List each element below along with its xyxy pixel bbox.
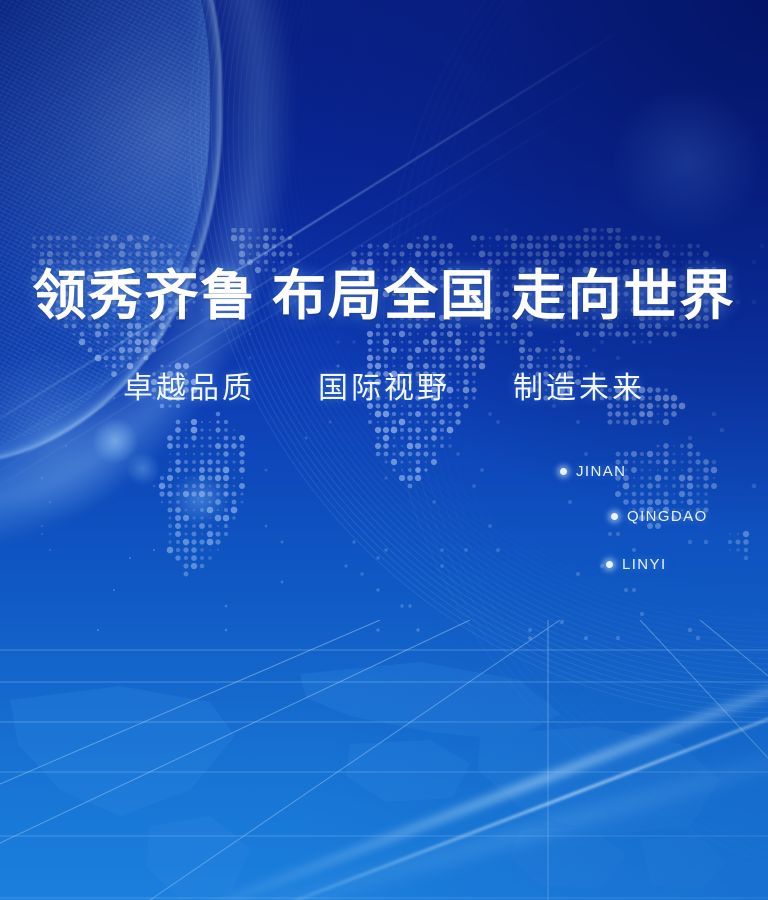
banner-hero: 领秀齐鲁 布局全国 走向世界 卓越品质 国际视野 制造未来 JINAN QING… <box>0 0 768 900</box>
map-pin-dot-icon <box>611 513 618 520</box>
city-marker-linyi: LINYI <box>606 556 667 573</box>
banner-headline: 领秀齐鲁 布局全国 走向世界 <box>0 266 768 326</box>
perspective-grid-graphic <box>0 620 768 900</box>
city-marker-qingdao: QINGDAO <box>611 508 708 525</box>
city-label: LINYI <box>622 556 667 573</box>
map-pin-dot-icon <box>560 468 567 475</box>
map-pin-dot-icon <box>606 561 613 568</box>
city-marker-jinan: JINAN <box>560 463 626 480</box>
city-label: QINGDAO <box>627 508 708 525</box>
banner-subline: 卓越品质 国际视野 制造未来 <box>0 370 768 408</box>
city-label: JINAN <box>576 463 626 480</box>
